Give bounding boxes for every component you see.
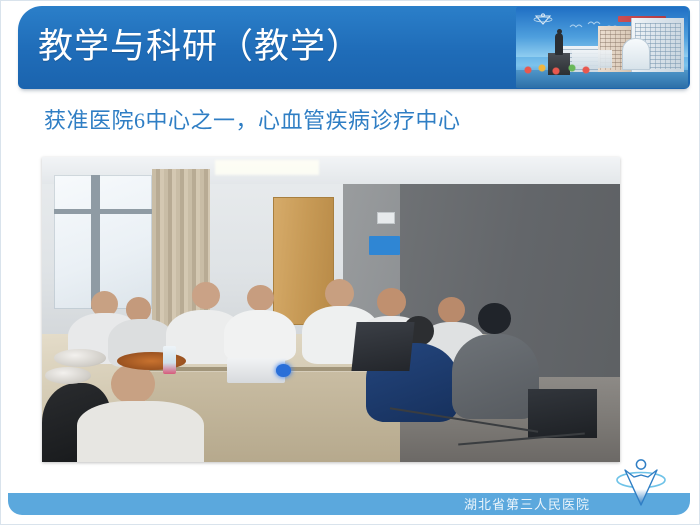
person-head [438,297,465,323]
presentation-slide: 教学与科研（教学） 获 [0,0,700,525]
hospital-building-photo [516,7,688,88]
conference-room-meeting-photo [42,157,620,462]
person-torso-grey-shirt [452,334,539,419]
window [54,175,152,309]
hospital-watermark-logo-icon [532,13,554,29]
slide-subtitle: 获准医院6中心之一，心血管疾病诊疗中心 [44,103,461,135]
person-head-dark [478,303,510,334]
water-bottle [163,346,176,373]
footer-organization-name: 湖北省第三人民医院 [464,494,590,515]
window-mullion-vertical [91,175,100,309]
wooden-door [273,197,334,325]
building-entrance-arch [622,38,650,70]
projector-lens [276,364,291,376]
flower-beds [522,62,596,76]
slide-footer-bar: 湖北省第三人民医院 [8,493,690,515]
person-torso [224,310,296,362]
wall-sign [369,236,401,254]
laptop-on-table [352,322,415,371]
slide-header-banner: 教学与科研（教学） [18,6,690,89]
foreground-person-head [111,364,154,404]
window-mullion-horizontal [54,209,152,214]
ceiling-light [215,160,319,175]
page-title: 教学与科研（教学） [38,14,362,80]
light-switch [377,212,394,224]
person-head [325,279,354,308]
hospital-person-orbit-logo-icon [608,456,674,508]
person-head [377,288,406,315]
statue-figure [555,33,563,55]
person-head [247,285,274,311]
statue-head [557,29,562,34]
foreground-person-torso [77,401,204,462]
